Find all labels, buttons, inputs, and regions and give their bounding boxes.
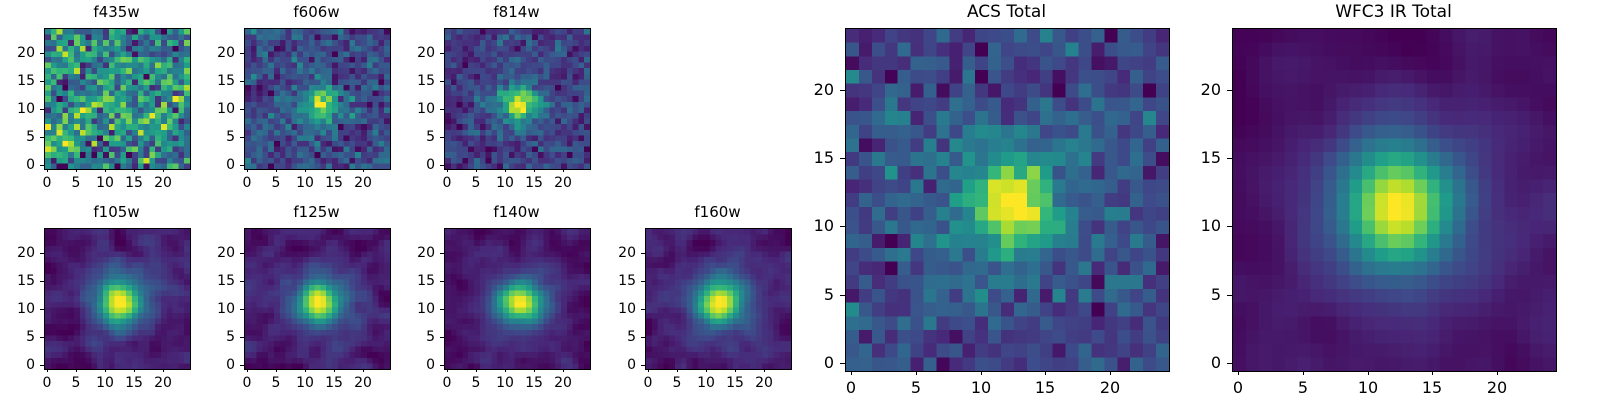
ytick-mark-f160w-2 [641,309,645,310]
ytick-mark-f105w-2 [40,309,44,310]
ytick-label-f606w-2: 10 [184,100,235,118]
ytick-label-f140w-1: 5 [384,328,435,346]
xtick-mark-f606w-2 [305,169,306,172]
ytick-label-f125w-4: 20 [184,244,235,262]
xtick-mark-f606w-3 [334,169,335,172]
ytick-label-acs_total-1: 5 [785,285,834,305]
ytick-mark-wfc3_ir_total-4 [1227,90,1232,91]
xtick-mark-f160w-0 [648,369,649,372]
xtick-label-f125w-3: 15 [325,374,343,392]
ytick-mark-f105w-4 [40,253,44,254]
xtick-mark-f125w-3 [334,369,335,372]
panel-wfc3_ir_total: WFC3 IR Total0510152005101520 [1172,2,1600,404]
ytick-label-f160w-3: 15 [585,272,636,290]
ytick-label-f814w-3: 15 [384,72,435,90]
ytick-label-f606w-4: 20 [184,44,235,62]
heatmap-axes-f125w [244,228,391,370]
ytick-label-wfc3_ir_total-3: 15 [1172,148,1221,168]
ytick-mark-f140w-4 [440,253,444,254]
ytick-mark-wfc3_ir_total-2 [1227,226,1232,227]
ytick-mark-f160w-3 [641,281,645,282]
xtick-mark-f606w-0 [247,169,248,172]
ytick-label-f160w-2: 10 [585,300,636,318]
xtick-label-f125w-2: 10 [296,374,314,392]
xtick-label-f105w-0: 0 [43,374,52,392]
ytick-label-f160w-0: 0 [585,356,636,374]
ytick-label-f160w-1: 5 [585,328,636,346]
xtick-mark-acs_total-1 [916,371,917,375]
xtick-mark-f814w-3 [534,169,535,172]
ytick-mark-f140w-2 [440,309,444,310]
xtick-mark-wfc3_ir_total-2 [1368,371,1369,375]
xtick-mark-wfc3_ir_total-0 [1238,371,1239,375]
ytick-label-f125w-2: 10 [184,300,235,318]
xtick-label-f160w-0: 0 [644,374,653,392]
ytick-label-f606w-3: 15 [184,72,235,90]
xtick-mark-f125w-1 [276,369,277,372]
ytick-mark-f606w-2 [240,109,244,110]
panel-acs_total: ACS Total0510152005101520 [785,2,1228,404]
ytick-mark-wfc3_ir_total-0 [1227,363,1232,364]
xtick-label-f814w-4: 20 [554,174,572,192]
xtick-mark-f606w-4 [363,169,364,172]
figure-canvas: f435w0510152005101520f606w05101520051015… [0,0,1600,400]
panel-title-f814w: f814w [384,2,649,22]
xtick-mark-wfc3_ir_total-1 [1303,371,1304,375]
xtick-mark-f814w-0 [447,169,448,172]
xtick-label-f606w-4: 20 [354,174,372,192]
xtick-label-f160w-4: 20 [755,374,773,392]
ytick-mark-f814w-3 [440,81,444,82]
ytick-mark-f606w-1 [240,137,244,138]
ytick-label-f140w-3: 15 [384,272,435,290]
xtick-mark-f140w-3 [534,369,535,372]
xtick-label-f606w-0: 0 [243,174,252,192]
xtick-mark-f140w-0 [447,369,448,372]
ytick-label-acs_total-2: 10 [785,216,834,236]
ytick-label-f105w-4: 20 [0,244,35,262]
heatmap-image-f435w [45,29,190,169]
ytick-label-wfc3_ir_total-4: 20 [1172,80,1221,100]
xtick-label-f160w-1: 5 [673,374,682,392]
ytick-label-acs_total-0: 0 [785,353,834,373]
ytick-mark-f105w-3 [40,281,44,282]
ytick-mark-f435w-3 [40,81,44,82]
ytick-label-f105w-0: 0 [0,356,35,374]
xtick-mark-f814w-4 [563,169,564,172]
xtick-mark-f435w-0 [47,169,48,172]
xtick-mark-f160w-1 [677,369,678,372]
ytick-mark-f814w-0 [440,165,444,166]
ytick-mark-f160w-1 [641,337,645,338]
ytick-mark-f160w-0 [641,365,645,366]
xtick-label-f814w-2: 10 [496,174,514,192]
xtick-label-f814w-1: 5 [472,174,481,192]
ytick-mark-f435w-2 [40,109,44,110]
heatmap-axes-f105w [44,228,191,370]
xtick-label-f606w-2: 10 [296,174,314,192]
ytick-label-f435w-0: 0 [0,156,35,174]
xtick-label-f814w-0: 0 [443,174,452,192]
xtick-label-acs_total-3: 15 [1035,378,1055,398]
xtick-mark-f105w-4 [163,369,164,372]
xtick-label-f140w-0: 0 [443,374,452,392]
xtick-mark-f435w-2 [105,169,106,172]
xtick-mark-f105w-3 [134,369,135,372]
heatmap-image-acs_total [846,29,1169,371]
ytick-label-f814w-0: 0 [384,156,435,174]
xtick-mark-f125w-0 [247,369,248,372]
xtick-label-f125w-1: 5 [272,374,281,392]
xtick-label-f105w-3: 15 [125,374,143,392]
xtick-mark-f105w-0 [47,369,48,372]
heatmap-axes-f814w [444,28,591,170]
ytick-label-f125w-1: 5 [184,328,235,346]
xtick-label-wfc3_ir_total-2: 10 [1358,378,1378,398]
xtick-label-acs_total-1: 5 [911,378,921,398]
xtick-label-f140w-4: 20 [554,374,572,392]
xtick-mark-f606w-1 [276,169,277,172]
xtick-label-f606w-3: 15 [325,174,343,192]
xtick-mark-f160w-3 [735,369,736,372]
xtick-label-wfc3_ir_total-3: 15 [1422,378,1442,398]
panel-title-wfc3_ir_total: WFC3 IR Total [1172,2,1600,22]
ytick-label-wfc3_ir_total-2: 10 [1172,216,1221,236]
xtick-mark-f160w-4 [764,369,765,372]
ytick-mark-f140w-3 [440,281,444,282]
xtick-label-f105w-4: 20 [154,374,172,392]
ytick-label-f105w-1: 5 [0,328,35,346]
ytick-mark-f435w-1 [40,137,44,138]
xtick-label-wfc3_ir_total-0: 0 [1233,378,1243,398]
panel-f814w: f814w0510152005101520 [384,2,649,202]
ytick-mark-f105w-0 [40,365,44,366]
ytick-mark-acs_total-3 [840,158,845,159]
ytick-mark-f125w-3 [240,281,244,282]
xtick-label-acs_total-2: 10 [971,378,991,398]
xtick-mark-f435w-4 [163,169,164,172]
ytick-mark-f105w-1 [40,337,44,338]
xtick-mark-f125w-4 [363,369,364,372]
heatmap-image-f814w [445,29,590,169]
heatmap-axes-f435w [44,28,191,170]
ytick-mark-acs_total-4 [840,90,845,91]
ytick-mark-wfc3_ir_total-3 [1227,158,1232,159]
xtick-mark-f140w-4 [563,369,564,372]
ytick-label-f814w-2: 10 [384,100,435,118]
xtick-mark-acs_total-2 [981,371,982,375]
heatmap-axes-f140w [444,228,591,370]
ytick-label-f140w-0: 0 [384,356,435,374]
heatmap-image-f160w [646,229,791,369]
xtick-mark-f105w-1 [76,369,77,372]
xtick-label-f435w-2: 10 [96,174,114,192]
xtick-mark-f435w-1 [76,169,77,172]
xtick-label-f606w-1: 5 [272,174,281,192]
ytick-mark-f125w-2 [240,309,244,310]
ytick-label-f435w-3: 15 [0,72,35,90]
ytick-mark-f814w-1 [440,137,444,138]
ytick-mark-f435w-0 [40,165,44,166]
xtick-label-acs_total-4: 20 [1100,378,1120,398]
ytick-mark-f435w-4 [40,53,44,54]
ytick-mark-wfc3_ir_total-1 [1227,295,1232,296]
xtick-mark-wfc3_ir_total-4 [1497,371,1498,375]
ytick-mark-f606w-3 [240,81,244,82]
xtick-label-f814w-3: 15 [525,174,543,192]
xtick-label-f435w-0: 0 [43,174,52,192]
ytick-mark-f814w-2 [440,109,444,110]
xtick-label-f160w-3: 15 [726,374,744,392]
xtick-label-f105w-1: 5 [72,374,81,392]
xtick-mark-f814w-2 [505,169,506,172]
panel-title-acs_total: ACS Total [785,2,1228,22]
ytick-label-f814w-4: 20 [384,44,435,62]
heatmap-image-f140w [445,229,590,369]
ytick-mark-f160w-4 [641,253,645,254]
ytick-mark-f140w-0 [440,365,444,366]
ytick-mark-acs_total-2 [840,226,845,227]
xtick-label-f140w-1: 5 [472,374,481,392]
ytick-label-f125w-3: 15 [184,272,235,290]
ytick-mark-f125w-4 [240,253,244,254]
xtick-label-f125w-0: 0 [243,374,252,392]
xtick-mark-f814w-1 [476,169,477,172]
ytick-mark-f125w-1 [240,337,244,338]
ytick-label-f105w-3: 15 [0,272,35,290]
ytick-label-f125w-0: 0 [184,356,235,374]
xtick-label-acs_total-0: 0 [846,378,856,398]
ytick-mark-acs_total-0 [840,363,845,364]
heatmap-axes-wfc3_ir_total [1232,28,1557,372]
xtick-mark-f435w-3 [134,169,135,172]
heatmap-image-f125w [245,229,390,369]
ytick-label-acs_total-4: 20 [785,80,834,100]
xtick-mark-acs_total-4 [1110,371,1111,375]
xtick-mark-acs_total-3 [1045,371,1046,375]
ytick-mark-f606w-4 [240,53,244,54]
ytick-label-wfc3_ir_total-0: 0 [1172,353,1221,373]
ytick-mark-f814w-4 [440,53,444,54]
xtick-label-wfc3_ir_total-1: 5 [1298,378,1308,398]
xtick-label-f160w-2: 10 [697,374,715,392]
heatmap-axes-f606w [244,28,391,170]
heatmap-image-f105w [45,229,190,369]
ytick-label-f606w-0: 0 [184,156,235,174]
ytick-label-f160w-4: 20 [585,244,636,262]
ytick-mark-f140w-1 [440,337,444,338]
ytick-label-f435w-1: 5 [0,128,35,146]
ytick-mark-f606w-0 [240,165,244,166]
xtick-mark-f105w-2 [105,369,106,372]
ytick-label-f105w-2: 10 [0,300,35,318]
ytick-label-acs_total-3: 15 [785,148,834,168]
ytick-mark-acs_total-1 [840,295,845,296]
heatmap-image-f606w [245,29,390,169]
xtick-label-f435w-3: 15 [125,174,143,192]
heatmap-image-wfc3_ir_total [1233,29,1556,371]
ytick-label-f435w-2: 10 [0,100,35,118]
ytick-label-f606w-1: 5 [184,128,235,146]
heatmap-axes-f160w [645,228,792,370]
heatmap-axes-acs_total [845,28,1170,372]
xtick-label-wfc3_ir_total-4: 20 [1487,378,1507,398]
ytick-label-f140w-4: 20 [384,244,435,262]
ytick-mark-f125w-0 [240,365,244,366]
xtick-label-f435w-1: 5 [72,174,81,192]
xtick-mark-wfc3_ir_total-3 [1432,371,1433,375]
ytick-label-f814w-1: 5 [384,128,435,146]
xtick-mark-f140w-1 [476,369,477,372]
xtick-mark-acs_total-0 [851,371,852,375]
xtick-mark-f160w-2 [706,369,707,372]
xtick-mark-f125w-2 [305,369,306,372]
ytick-label-f435w-4: 20 [0,44,35,62]
xtick-label-f140w-2: 10 [496,374,514,392]
xtick-label-f140w-3: 15 [525,374,543,392]
xtick-label-f125w-4: 20 [354,374,372,392]
ytick-label-f140w-2: 10 [384,300,435,318]
ytick-label-wfc3_ir_total-1: 5 [1172,285,1221,305]
xtick-label-f435w-4: 20 [154,174,172,192]
xtick-mark-f140w-2 [505,369,506,372]
xtick-label-f105w-2: 10 [96,374,114,392]
